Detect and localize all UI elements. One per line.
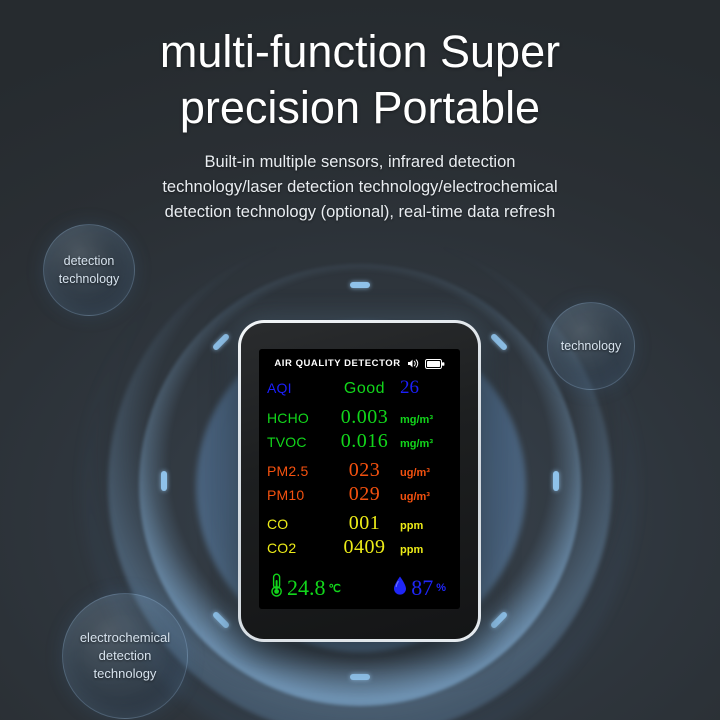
reading-row: CO001ppm bbox=[267, 512, 452, 536]
bubble-technology: technology bbox=[547, 302, 635, 390]
temperature-value: 24.8 bbox=[287, 575, 326, 601]
page-title: multi-function Super precision Portable bbox=[0, 24, 720, 136]
subtitle-line-1: Built-in multiple sensors, infrared dete… bbox=[0, 150, 720, 175]
environment-strip: 24.8 ℃ 87 % bbox=[267, 569, 452, 603]
subtitle-line-2: technology/laser detection technology/el… bbox=[0, 175, 720, 200]
thermometer-icon bbox=[269, 573, 284, 603]
title-line-1: multi-function Super bbox=[0, 24, 720, 80]
reading-row: AQIGood26 bbox=[267, 377, 452, 401]
reading-group: CO001ppmCO20409ppm bbox=[267, 512, 452, 560]
reading-value: 023 bbox=[329, 459, 400, 482]
reading-value: 029 bbox=[329, 483, 400, 506]
bubble-electrochemical-detection-technology: electrochemical detection technology bbox=[62, 593, 188, 719]
reading-group: HCHO0.003mg/m³TVOC0.016mg/m³ bbox=[267, 406, 452, 454]
device-body: AIR QUALITY DETECTOR AQIGood bbox=[241, 323, 478, 639]
reading-value: Good bbox=[329, 380, 400, 398]
air-quality-detector-device: AIR QUALITY DETECTOR AQIGood bbox=[238, 320, 481, 642]
reading-value: 0409 bbox=[329, 536, 400, 559]
bubble-label: detection technology bbox=[44, 252, 134, 288]
reading-label: TVOC bbox=[267, 434, 329, 450]
reading-value: 001 bbox=[329, 512, 400, 535]
reading-group: PM2.5023ug/m³PM10029ug/m³ bbox=[267, 459, 452, 507]
device-screen: AIR QUALITY DETECTOR AQIGood bbox=[259, 349, 460, 609]
humidity-value: 87 bbox=[411, 575, 433, 601]
reading-value: 0.003 bbox=[329, 406, 400, 429]
sensor-readings-table: AQIGood26HCHO0.003mg/m³TVOC0.016mg/m³PM2… bbox=[267, 375, 452, 567]
reading-unit: ug/m³ bbox=[400, 467, 452, 479]
reading-label: PM2.5 bbox=[267, 463, 329, 479]
reading-value: 0.016 bbox=[329, 430, 400, 453]
reading-row: PM2.5023ug/m³ bbox=[267, 459, 452, 483]
bubble-detection-technology: detection technology bbox=[43, 224, 135, 316]
reading-label: HCHO bbox=[267, 410, 329, 426]
bubble-label: technology bbox=[553, 337, 629, 355]
temperature-reading: 24.8 ℃ bbox=[269, 573, 341, 603]
reading-row: CO20409ppm bbox=[267, 536, 452, 560]
water-drop-icon bbox=[392, 575, 408, 602]
bubble-label: electrochemical detection technology bbox=[63, 629, 187, 683]
reading-unit: ppm bbox=[400, 544, 452, 556]
screen-header: AIR QUALITY DETECTOR bbox=[267, 358, 452, 375]
temperature-unit: ℃ bbox=[329, 582, 341, 595]
humidity-reading: 87 % bbox=[392, 575, 446, 602]
reading-row: HCHO0.003mg/m³ bbox=[267, 406, 452, 430]
reading-row: TVOC0.016mg/m³ bbox=[267, 430, 452, 454]
reading-unit: mg/m³ bbox=[400, 414, 452, 426]
hero-subtitle: Built-in multiple sensors, infrared dete… bbox=[0, 150, 720, 225]
tick-mark bbox=[553, 471, 559, 491]
subtitle-line-3: detection technology (optional), real-ti… bbox=[0, 200, 720, 225]
reading-unit: ppm bbox=[400, 520, 452, 532]
screen-title: AIR QUALITY DETECTOR bbox=[274, 358, 400, 369]
reading-unit: mg/m³ bbox=[400, 438, 452, 450]
battery-full-icon bbox=[425, 359, 445, 369]
reading-label: CO bbox=[267, 516, 329, 532]
reading-unit: ug/m³ bbox=[400, 491, 452, 503]
hero-header: multi-function Super precision Portable … bbox=[0, 0, 720, 225]
reading-label: CO2 bbox=[267, 540, 329, 556]
tick-mark bbox=[350, 674, 370, 680]
humidity-unit: % bbox=[436, 582, 446, 594]
reading-label: AQI bbox=[267, 380, 329, 396]
reading-row: PM10029ug/m³ bbox=[267, 483, 452, 507]
reading-label: PM10 bbox=[267, 487, 329, 503]
reading-unit: 26 bbox=[400, 377, 452, 399]
speaker-icon bbox=[407, 358, 419, 369]
reading-group: AQIGood26 bbox=[267, 377, 452, 401]
title-line-2: precision Portable bbox=[0, 80, 720, 136]
tick-mark bbox=[350, 282, 370, 288]
tick-mark bbox=[161, 471, 167, 491]
